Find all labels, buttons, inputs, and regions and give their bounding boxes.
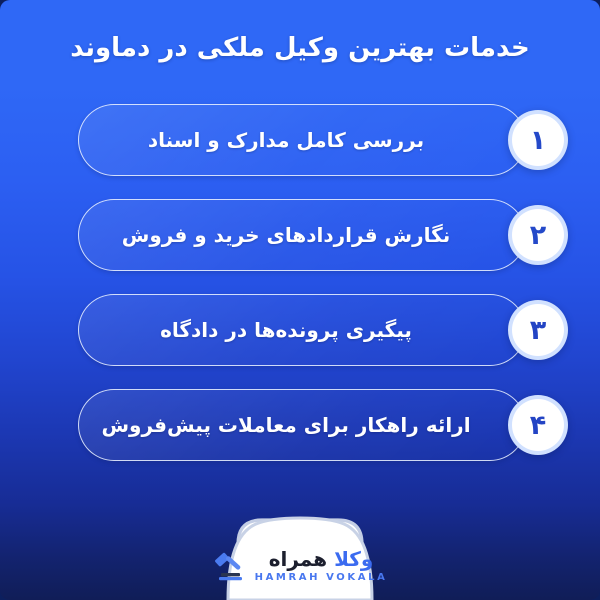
list-item: پیگیری پرونده‌ها در دادگاه ۳ [0, 294, 600, 366]
step-number-4: ۴ [530, 412, 546, 439]
gavel-icon [213, 549, 247, 583]
step-badge-3: ۳ [508, 300, 568, 360]
list-item: بررسی کامل مدارک و اسناد ۱ [0, 104, 600, 176]
step-badge-2: ۲ [508, 205, 568, 265]
list-item: ارائه راهکار برای معاملات پیش‌فروش ۴ [0, 389, 600, 461]
logo-name-fa-primary: همراه [269, 547, 327, 571]
logo-content: وکلا همراه HAMRAH VOKALA [194, 532, 406, 600]
service-pill-1[interactable]: بررسی کامل مدارک و اسناد [78, 104, 526, 176]
list-item: نگارش قراردادهای خرید و فروش ۲ [0, 199, 600, 271]
page-title: خدمات بهترین وکیل ملکی در دماوند [0, 26, 600, 70]
step-number-3: ۳ [530, 317, 546, 344]
step-number-1: ۱ [530, 127, 546, 154]
logo-name-en: HAMRAH VOKALA [255, 571, 388, 585]
brand-logo-card: وکلا همراه HAMRAH VOKALA [194, 510, 406, 600]
service-label-1: بررسی کامل مدارک و اسناد [134, 124, 450, 156]
logo-wordmark: وکلا همراه HAMRAH VOKALA [255, 548, 388, 585]
step-number-2: ۲ [530, 222, 546, 249]
step-badge-4: ۴ [508, 395, 568, 455]
service-label-4: ارائه راهکار برای معاملات پیش‌فروش [87, 409, 496, 441]
logo-name-fa: وکلا همراه [269, 548, 374, 571]
services-list: بررسی کامل مدارک و اسناد ۱ نگارش قرارداد… [0, 104, 600, 484]
service-pill-4[interactable]: ارائه راهکار برای معاملات پیش‌فروش [78, 389, 526, 461]
service-pill-2[interactable]: نگارش قراردادهای خرید و فروش [78, 199, 526, 271]
step-badge-1: ۱ [508, 110, 568, 170]
service-label-3: پیگیری پرونده‌ها در دادگاه [146, 314, 438, 346]
infographic-poster: خدمات بهترین وکیل ملکی در دماوند بررسی ک… [0, 0, 600, 600]
logo-name-fa-secondary: وکلا [334, 547, 373, 571]
service-pill-3[interactable]: پیگیری پرونده‌ها در دادگاه [78, 294, 526, 366]
service-label-2: نگارش قراردادهای خرید و فروش [108, 219, 477, 251]
